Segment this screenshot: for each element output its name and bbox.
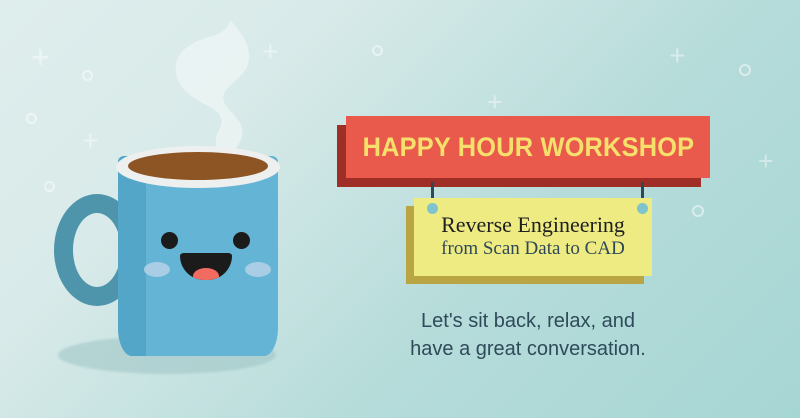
workshop-subtitle-sign: Reverse Engineering from Scan Data to CA… [414, 198, 652, 276]
sign-pin-left [427, 203, 438, 214]
plus-icon: + [487, 89, 503, 116]
tagline-line-2: have a great conversation. [346, 335, 710, 363]
sign-pin-right [637, 203, 648, 214]
mug-face-cheek-left [144, 262, 170, 277]
sign-face: Reverse Engineering from Scan Data to CA… [414, 198, 652, 276]
mug-face-tongue [193, 268, 219, 280]
banner-headline: HAPPY HOUR WORKSHOP [346, 116, 710, 178]
plus-icon: + [31, 41, 50, 73]
circle-icon [82, 70, 93, 81]
circle-icon [26, 113, 37, 124]
mug-face-cheek-right [245, 262, 271, 277]
banner-face: HAPPY HOUR WORKSHOP [346, 116, 710, 178]
mug-face-eye-right [233, 232, 250, 249]
plus-icon: + [758, 148, 774, 175]
poster-canvas: ++++++ HAPPY HOUR WORKSHOP Reverse E [0, 0, 800, 418]
circle-icon [739, 64, 751, 76]
mug-body-shading [118, 156, 146, 356]
tagline-line-1: Let's sit back, relax, and [346, 307, 710, 335]
plus-icon: + [669, 42, 686, 71]
banner-title-text: HAPPY HOUR WORKSHOP [362, 132, 694, 163]
coffee-surface [128, 152, 268, 180]
coffee-mug-illustration [40, 140, 330, 390]
circle-icon [692, 205, 704, 217]
sign-subtitle-text: from Scan Data to CAD [441, 238, 625, 261]
tagline: Let's sit back, relax, and have a great … [346, 307, 710, 364]
sign-title-text: Reverse Engineering [441, 213, 625, 238]
mug-face-eye-left [161, 232, 178, 249]
circle-icon [372, 45, 383, 56]
